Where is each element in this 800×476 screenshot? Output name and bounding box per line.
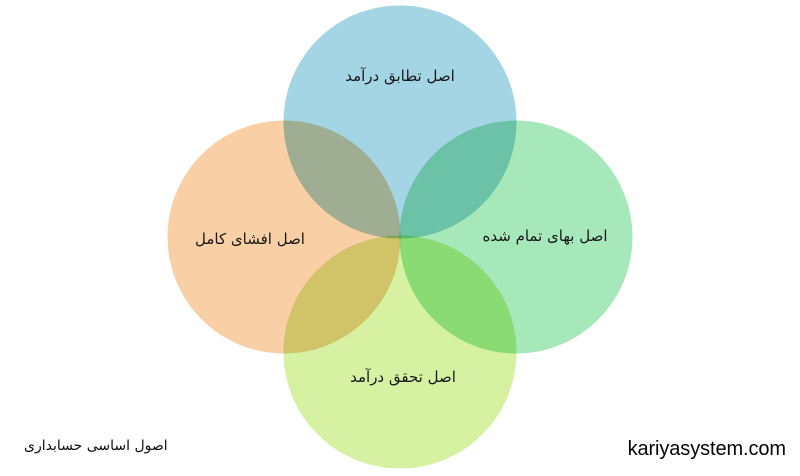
venn-label-revenue-realization-principle: اصل تحقق درآمد xyxy=(350,368,456,386)
venn-diagram-page: اصل تطابق درآمد اصل بهای تمام شده اصل اف… xyxy=(0,0,800,476)
diagram-caption: اصول اساسی حسابداری xyxy=(24,438,168,454)
venn-circle-bottom[interactable] xyxy=(282,234,518,470)
site-watermark: kariyasystem.com xyxy=(628,438,786,461)
venn-label-full-disclosure-principle: اصل افشای کامل xyxy=(195,230,305,248)
venn-label-matching-principle: اصل تطابق درآمد xyxy=(345,67,455,85)
venn-label-cost-principle: اصل بهای تمام شده xyxy=(483,227,608,245)
